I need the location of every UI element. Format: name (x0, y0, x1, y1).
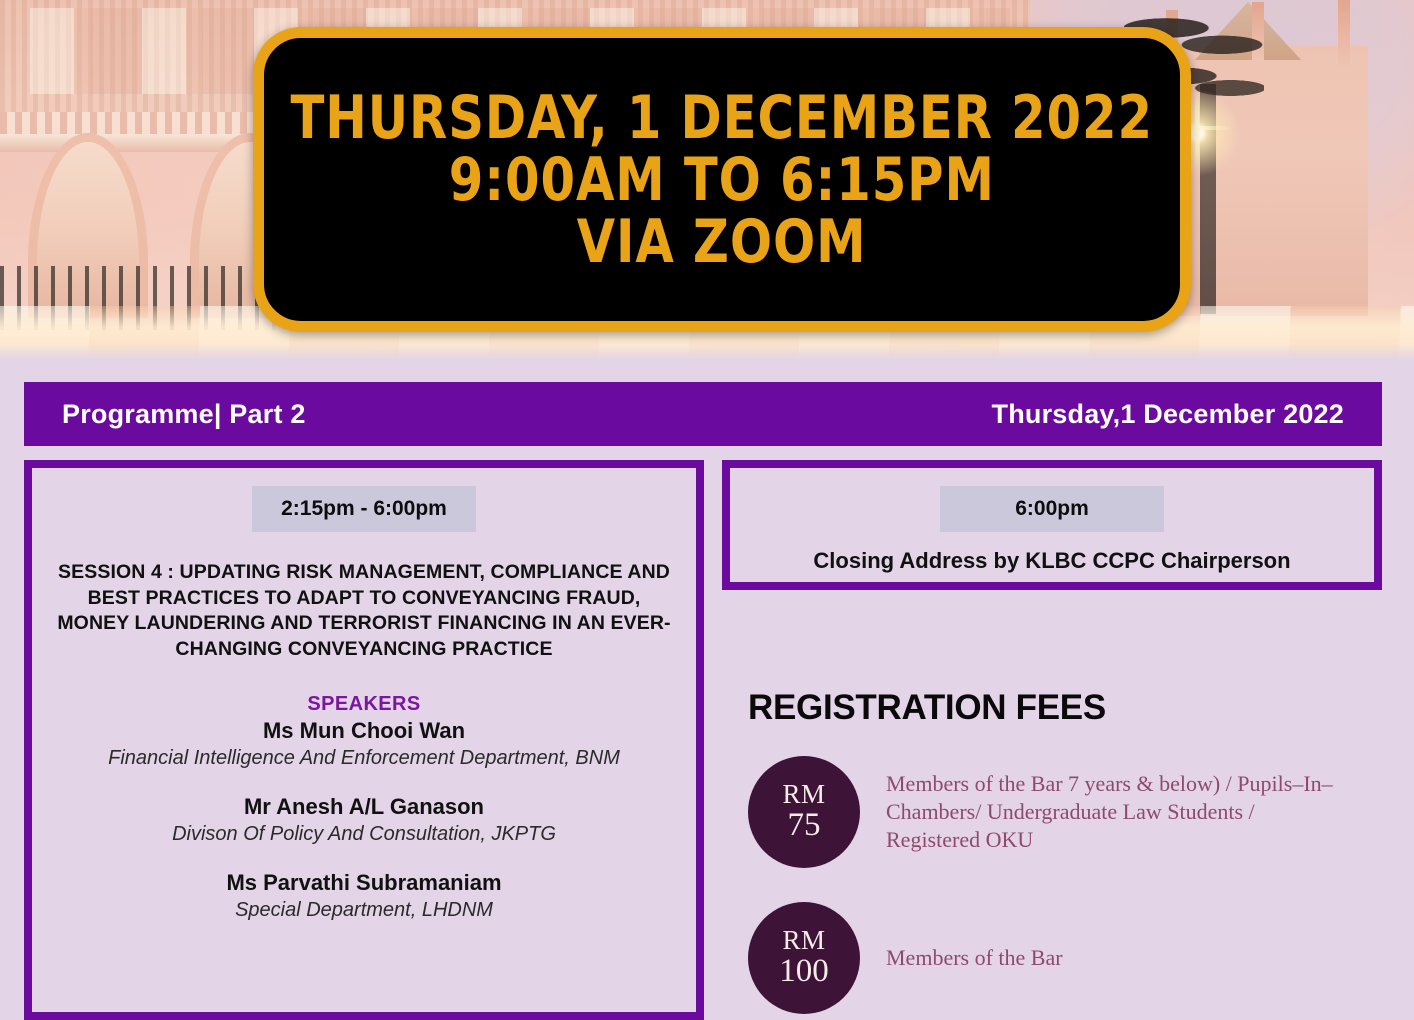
fee-amount: 75 (788, 809, 821, 843)
session-title: SESSION 4 : UPDATING RISK MANAGEMENT, CO… (54, 560, 674, 663)
closing-time-chip: 6:00pm (940, 486, 1164, 532)
fee-row: RM 100 Members of the Bar (748, 902, 1348, 1014)
plaque-date-line: Thursday, 1 December 2022 (291, 88, 1153, 148)
event-date-plaque: Thursday, 1 December 2022 9:00am to 6:15… (253, 27, 1191, 332)
fee-amount: 100 (779, 955, 829, 989)
session-time-chip: 2:15pm - 6:00pm (252, 486, 476, 532)
speaker-entry: Ms Mun Chooi Wan Financial Intelligence … (32, 718, 696, 770)
speaker-entry: Ms Parvathi Subramaniam Special Departme… (32, 870, 696, 922)
fee-badge: RM 100 (748, 902, 860, 1014)
fee-currency: RM (782, 781, 825, 809)
speaker-name: Ms Parvathi Subramaniam (32, 870, 696, 896)
fee-row: RM 75 Members of the Bar 7 years & below… (748, 756, 1348, 868)
hero-banner: Thursday, 1 December 2022 9:00am to 6:15… (0, 0, 1414, 360)
session-card: 2:15pm - 6:00pm SESSION 4 : UPDATING RIS… (24, 460, 704, 1020)
speaker-entry: Mr Anesh A/L Ganason Divison Of Policy A… (32, 794, 696, 846)
fee-currency: RM (782, 927, 825, 955)
speakers-heading: SPEAKERS (32, 693, 696, 716)
hero-bottom-fade (0, 344, 1414, 360)
registration-fees-section: REGISTRATION FEES RM 75 Members of the B… (748, 688, 1348, 1014)
programme-part-label: Programme| Part 2 (62, 399, 306, 430)
fee-description: Members of the Bar (886, 944, 1063, 972)
plaque-time-line: 9:00am to 6:15pm (449, 150, 995, 210)
fee-badge: RM 75 (748, 756, 860, 868)
sun-flare-ray-vertical (1195, 92, 1199, 166)
programme-header-bar: Programme| Part 2 Thursday,1 December 20… (24, 382, 1382, 446)
programme-date-label: Thursday,1 December 2022 (992, 399, 1344, 430)
speaker-organisation: Financial Intelligence And Enforcement D… (32, 747, 696, 770)
plaque-platform-line: Via Zoom (577, 212, 867, 272)
closing-address-text: Closing Address by KLBC CCPC Chairperson (746, 548, 1358, 574)
speaker-name: Ms Mun Chooi Wan (32, 718, 696, 744)
fee-description: Members of the Bar 7 years & below) / Pu… (886, 770, 1348, 854)
registration-fees-title: REGISTRATION FEES (748, 688, 1348, 728)
speaker-organisation: Special Department, LHDNM (32, 899, 696, 922)
speaker-name: Mr Anesh A/L Ganason (32, 794, 696, 820)
tower-spire (1338, 0, 1350, 68)
speaker-organisation: Divison Of Policy And Consultation, JKPT… (32, 823, 696, 846)
closing-address-card: 6:00pm Closing Address by KLBC CCPC Chai… (722, 460, 1382, 590)
